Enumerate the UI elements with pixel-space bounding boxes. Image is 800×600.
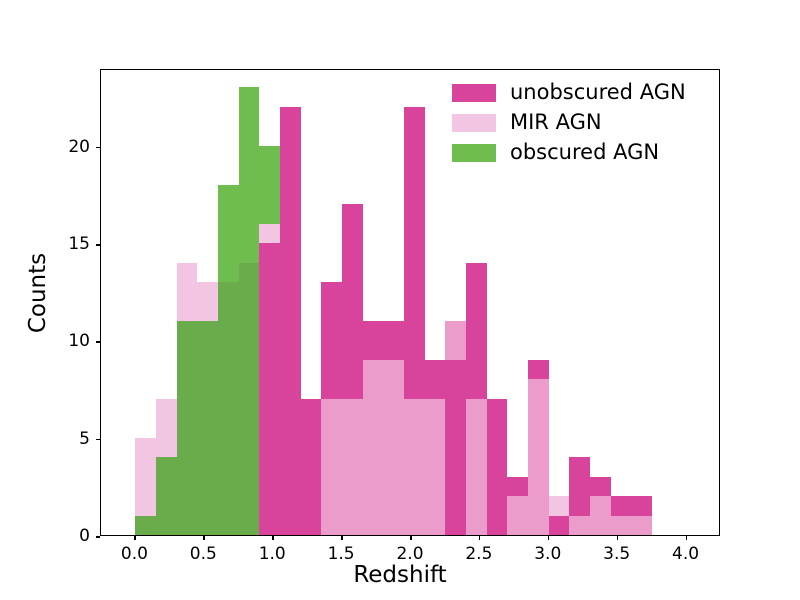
histogram-bar (404, 107, 425, 399)
histogram-bar (280, 107, 301, 535)
histogram-bar (404, 399, 425, 535)
x-tick-mark (272, 536, 274, 540)
histogram-bar (569, 516, 590, 535)
legend-label: unobscured AGN (510, 82, 686, 103)
y-tick-label: 0 (44, 526, 90, 546)
x-tick-mark (548, 536, 550, 540)
y-tick-label: 15 (44, 234, 90, 254)
histogram-bar (611, 516, 632, 535)
x-tick-label: 2.5 (465, 544, 492, 564)
legend-swatch-icon (452, 84, 496, 102)
legend-item: obscured AGN (452, 142, 686, 163)
x-tick-label: 1.0 (259, 544, 286, 564)
legend-label: obscured AGN (510, 142, 659, 163)
histogram-bar (631, 516, 652, 535)
x-tick-mark (479, 536, 481, 540)
histogram-bar (507, 477, 528, 496)
histogram-bar (383, 360, 404, 535)
histogram-bar (549, 496, 570, 515)
y-tick-mark (96, 147, 100, 149)
histogram-bar (590, 496, 611, 535)
legend-item: MIR AGN (452, 112, 686, 133)
histogram-bar (549, 516, 570, 535)
y-tick-mark (96, 439, 100, 441)
histogram-bar (197, 321, 218, 535)
histogram-bar (425, 360, 446, 399)
y-axis-label: Counts (25, 203, 51, 383)
histogram-bar (259, 243, 280, 535)
histogram-bar (239, 263, 260, 535)
histogram-bar (507, 496, 528, 535)
y-tick-mark (96, 244, 100, 246)
x-tick-mark (617, 536, 619, 540)
histogram-bar (528, 360, 549, 379)
x-tick-label: 3.5 (603, 544, 630, 564)
legend-item: unobscured AGN (452, 82, 686, 103)
histogram-bar (342, 399, 363, 535)
x-tick-label: 1.5 (328, 544, 355, 564)
y-tick-mark (96, 536, 100, 538)
histogram-bar (321, 282, 342, 399)
histogram-bar (631, 496, 652, 515)
histogram-bar (445, 360, 466, 535)
x-tick-mark (410, 536, 412, 540)
y-tick-label: 10 (44, 331, 90, 351)
x-tick-label: 0.0 (121, 544, 148, 564)
histogram-bar (259, 146, 280, 224)
x-tick-mark (686, 536, 688, 540)
histogram-bar (218, 282, 239, 535)
x-tick-mark (134, 536, 136, 540)
histogram-bar (218, 185, 239, 282)
histogram-bar (569, 457, 590, 515)
histogram-bar (259, 224, 280, 243)
legend-label: MIR AGN (510, 112, 602, 133)
histogram-bar (177, 321, 198, 535)
legend-swatch-icon (452, 114, 496, 132)
legend-swatch-icon (452, 144, 496, 162)
legend: unobscured AGNMIR AGNobscured AGN (452, 82, 686, 163)
histogram-bar (487, 399, 508, 535)
histogram-bar (466, 399, 487, 535)
histogram-bar (239, 87, 260, 262)
histogram-bar (466, 263, 487, 399)
histogram-bar (301, 399, 322, 535)
x-tick-label: 4.0 (672, 544, 699, 564)
histogram-bar (611, 496, 632, 515)
histogram-bar (383, 321, 404, 360)
histogram-figure: Redshift Counts unobscured AGNMIR AGNobs… (0, 0, 800, 600)
y-tick-label: 20 (44, 137, 90, 157)
histogram-bar (156, 457, 177, 535)
x-tick-mark (203, 536, 205, 540)
y-tick-mark (96, 341, 100, 343)
x-tick-mark (341, 536, 343, 540)
histogram-bar (528, 379, 549, 535)
histogram-bar (321, 399, 342, 535)
x-tick-label: 3.0 (534, 544, 561, 564)
x-axis-label: Redshift (0, 562, 800, 588)
y-tick-label: 5 (44, 429, 90, 449)
x-tick-label: 0.5 (190, 544, 217, 564)
histogram-bar (342, 204, 363, 399)
histogram-bar (363, 360, 384, 535)
x-tick-label: 2.0 (396, 544, 423, 564)
histogram-bar (363, 321, 384, 360)
histogram-bar (135, 516, 156, 535)
histogram-bar (590, 477, 611, 496)
histogram-bar (425, 399, 446, 535)
